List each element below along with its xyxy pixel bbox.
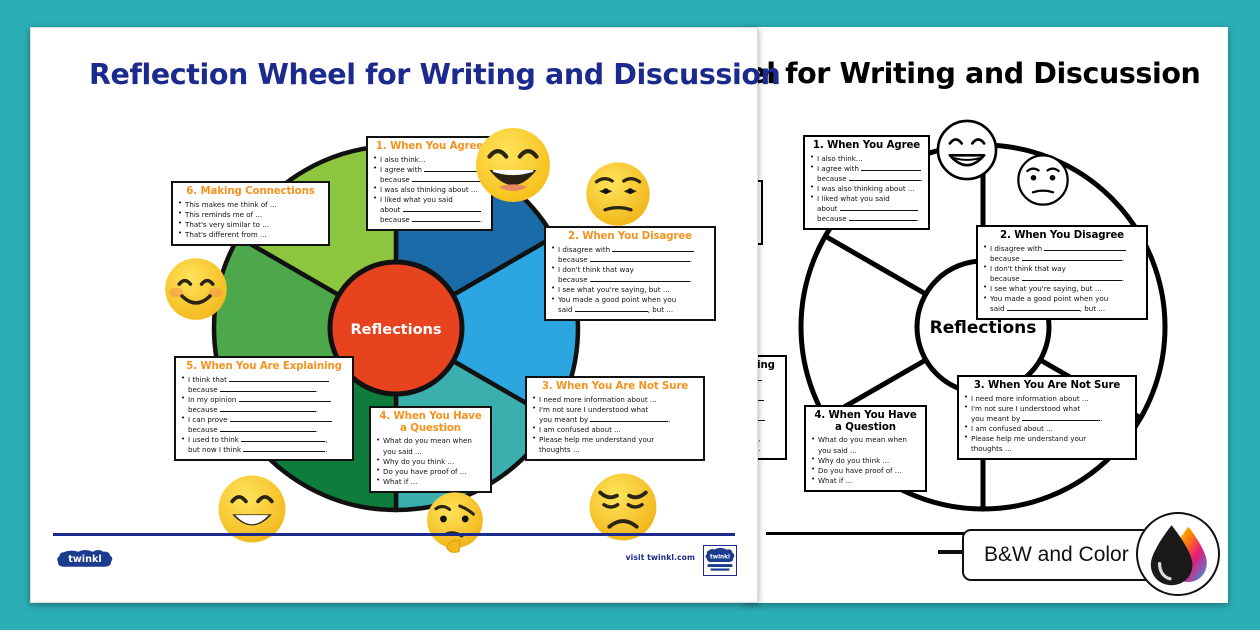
info-box-item: I agree with xyxy=(373,165,486,175)
info-box-item: This makes me think of ... xyxy=(178,200,323,210)
info-box-item: What if ... xyxy=(811,476,920,486)
fill-in-blank-line xyxy=(849,214,917,221)
info-box-item: I was also thinking about ... xyxy=(810,184,923,194)
info-box-item: In my opinion xyxy=(181,395,347,405)
ink-drop-icon xyxy=(1136,512,1220,596)
info-box-heading: 5. When You Are Explaining xyxy=(181,361,347,373)
info-box-item: I used to think , xyxy=(181,435,347,445)
info-box-item: Why do you think ... xyxy=(376,457,485,467)
info-box-item: That's different from ... xyxy=(178,230,323,240)
info-box-heading: 3. When You Are Not Sure xyxy=(964,380,1130,392)
info-box-item: Do you have proof of ... xyxy=(811,466,920,476)
info-box-list: I disagree with because .I don't think t… xyxy=(551,245,709,315)
fill-in-blank-line xyxy=(612,245,694,252)
info-box-item: I don't think that way xyxy=(551,265,709,275)
info-box-list: What do you mean whenyou said ...Why do … xyxy=(811,435,920,485)
fill-in-blank-line xyxy=(412,215,480,222)
info-box-heading-line2: a Question xyxy=(811,422,920,434)
fill-in-blank-line xyxy=(220,425,316,432)
info-box-heading: 4. When You Have xyxy=(811,410,920,422)
laughing-face-emoji xyxy=(471,123,555,207)
twinkl-logo-text: twinkl xyxy=(68,554,101,565)
info-box-item: I don't think that way xyxy=(983,264,1141,274)
laughing-face-emoji-bw xyxy=(934,117,1000,183)
info-box-item: Why do you think ... xyxy=(811,456,920,466)
info-box-3: 3. When You Are Not SureI need more info… xyxy=(525,376,705,461)
info-box-item: I also think... xyxy=(373,155,486,165)
info-box-item: I am confused about ... xyxy=(964,424,1130,434)
fill-in-blank-line xyxy=(241,435,325,442)
info-box-item: because . xyxy=(810,174,923,184)
info-box-item: thoughts ... xyxy=(532,445,698,455)
info-box-item: I disagree with xyxy=(551,245,709,255)
fill-in-blank-line xyxy=(1022,414,1100,421)
info-box-item: because . xyxy=(551,275,709,285)
fill-in-blank-line xyxy=(220,385,316,392)
info-box-item: I see what you're saying, but ... xyxy=(551,285,709,295)
center-label: Reflections xyxy=(351,322,442,338)
unamused-face-emoji-bw xyxy=(1015,152,1071,208)
info-box-item: because . xyxy=(373,175,486,185)
info-box-item: I also think... xyxy=(810,154,923,164)
info-box-item: I need more information about ... xyxy=(532,395,698,405)
info-box-heading: 2. When You Disagree xyxy=(551,231,709,243)
fill-in-blank-line xyxy=(861,164,921,171)
info-box-item: Please help me understand your xyxy=(532,435,698,445)
fill-in-blank-line xyxy=(1044,244,1126,251)
info-box-item: because . xyxy=(810,214,923,224)
info-box-heading: 6. Making Connections xyxy=(178,186,323,198)
info-box-item: I can prove xyxy=(181,415,347,425)
info-box-item: because . xyxy=(983,274,1141,284)
bw-and-color-label: B&W and Color xyxy=(984,543,1129,567)
info-box-item: That's very similar to ... xyxy=(178,220,323,230)
info-box-item: you said ... xyxy=(376,447,485,457)
info-box-heading: 2. When You Disagree xyxy=(983,230,1141,242)
fill-in-blank-line xyxy=(590,255,690,262)
info-box-item: This reminds me of ... xyxy=(178,210,323,220)
unamused-face-emoji xyxy=(582,158,654,230)
info-box-heading-line2: a Question xyxy=(376,423,485,435)
bw-worksheet-sheet[interactable]: Reflection Wheel for Writing and Discuss… xyxy=(744,27,1228,603)
info-box-item: because . xyxy=(181,385,347,395)
fill-in-blank-line xyxy=(575,305,648,312)
info-box-item: because . xyxy=(983,254,1141,264)
info-box-item: What do you mean when xyxy=(811,435,920,445)
info-box-5: 5. When You Are ExplainingI think that b… xyxy=(174,356,354,461)
info-box-item: I agree with xyxy=(810,164,923,174)
info-box-6: 6. Making ConnectionsThis makes me think… xyxy=(171,181,330,246)
fill-in-blank-line xyxy=(590,415,668,422)
info-box-item: about xyxy=(373,205,486,215)
info-box-item: I think that xyxy=(181,375,347,385)
info-box-item: I liked what you said xyxy=(810,194,923,204)
info-box-list: I need more information about ...I'm not… xyxy=(532,395,698,455)
info-box-item: you meant by . xyxy=(532,415,698,425)
info-box-item: I see what you're saying, but ... xyxy=(983,284,1141,294)
fill-in-blank-line xyxy=(1022,254,1122,261)
info-box-list: I think that because .In my opinion beca… xyxy=(181,375,347,456)
info-box-item: thoughts ... xyxy=(964,444,1130,454)
fill-in-blank-line xyxy=(220,405,316,412)
info-box-item: I was also thinking about ... xyxy=(373,185,486,195)
info-box-item: What if ... xyxy=(376,477,485,487)
info-box-item: You made a good point when you xyxy=(983,294,1141,304)
twinkl-logo[interactable]: twinkl xyxy=(56,546,114,572)
info-box-item: because . xyxy=(181,425,347,435)
info-box-item: You made a good point when you xyxy=(551,295,709,305)
fill-in-blank-line xyxy=(840,204,918,211)
info-box-4: 4. When You Havea QuestionWhat do you me… xyxy=(369,406,492,493)
info-box-item: Please help me understand your xyxy=(964,434,1130,444)
info-box-2-bw: 2. When You DisagreeI disagree with beca… xyxy=(976,225,1148,320)
info-box-item: I need more information about ... xyxy=(964,394,1130,404)
fill-in-blank-line xyxy=(403,205,481,212)
thinking-face-emoji xyxy=(421,489,489,557)
info-box-4-bw: 4. When You Havea QuestionWhat do you me… xyxy=(804,405,927,492)
info-box-1-bw: 1. When You AgreeI also think...I agree … xyxy=(803,135,930,230)
info-box-item: What do you mean when xyxy=(376,436,485,446)
info-box-item: said , but ... xyxy=(983,304,1141,314)
info-box-heading: 1. When You Agree xyxy=(810,140,923,152)
info-box-list: What do you mean whenyou said ...Why do … xyxy=(376,436,485,486)
info-box-item: I'm not sure I understood what xyxy=(532,405,698,415)
visit-twinkl-link[interactable]: visit twinkl.com xyxy=(626,553,695,562)
blushing-smile-emoji xyxy=(161,254,231,324)
info-box-item: because . xyxy=(373,215,486,225)
info-box-item: about xyxy=(810,204,923,214)
fill-in-blank-line xyxy=(243,445,325,452)
page-title: Reflection Wheel for Writing and Discuss… xyxy=(89,58,780,91)
fill-in-blank-line xyxy=(229,375,329,382)
center-label-bw: Reflections xyxy=(930,318,1037,338)
color-worksheet-sheet[interactable]: Reflection Wheel for Writing and Discuss… xyxy=(30,27,758,603)
info-box-list: I need more information about ...I'm not… xyxy=(964,394,1130,454)
info-box-heading: 4. When You Have xyxy=(376,411,485,423)
info-box-list: I disagree with because .I don't think t… xyxy=(983,244,1141,314)
fill-in-blank-line xyxy=(1022,274,1122,281)
info-box-heading: 3. When You Are Not Sure xyxy=(532,381,698,393)
info-box-item: Do you have proof of ... xyxy=(376,467,485,477)
bw-and-color-badge[interactable]: B&W and Color xyxy=(962,529,1158,581)
info-box-list: I also think...I agree with because .I w… xyxy=(373,155,486,225)
info-box-heading: 1. When You Agree xyxy=(373,141,486,153)
twinkl-badge-text: twinkl xyxy=(710,554,730,560)
info-box-item: I am confused about ... xyxy=(532,425,698,435)
footer-rule xyxy=(53,533,735,536)
info-box-item: because . xyxy=(181,405,347,415)
info-box-item: I'm not sure I understood what xyxy=(964,404,1130,414)
info-box-item: but now I think . xyxy=(181,445,347,455)
fill-in-blank-line xyxy=(1007,304,1080,311)
fill-in-blank-line xyxy=(239,395,331,402)
info-box-2: 2. When You DisagreeI disagree with beca… xyxy=(544,226,716,321)
info-box-item: you meant by . xyxy=(964,414,1130,424)
fill-in-blank-line xyxy=(849,174,921,181)
info-box-item: you said ... xyxy=(811,446,920,456)
fill-in-blank-line xyxy=(590,275,690,282)
grinning-face-emoji xyxy=(214,471,290,547)
info-box-3-bw: 3. When You Are Not SureI need more info… xyxy=(957,375,1137,460)
info-box-item: said , but ... xyxy=(551,305,709,315)
info-box-item: I disagree with xyxy=(983,244,1141,254)
info-box-item: I liked what you said xyxy=(373,195,486,205)
info-box-item: because . xyxy=(551,255,709,265)
fill-in-blank-line xyxy=(230,415,332,422)
twinkl-quality-badge: twinkl xyxy=(703,545,737,576)
info-box-list: This makes me think of ...This reminds m… xyxy=(178,200,323,240)
info-box-list: I also think...I agree with because .I w… xyxy=(810,154,923,224)
